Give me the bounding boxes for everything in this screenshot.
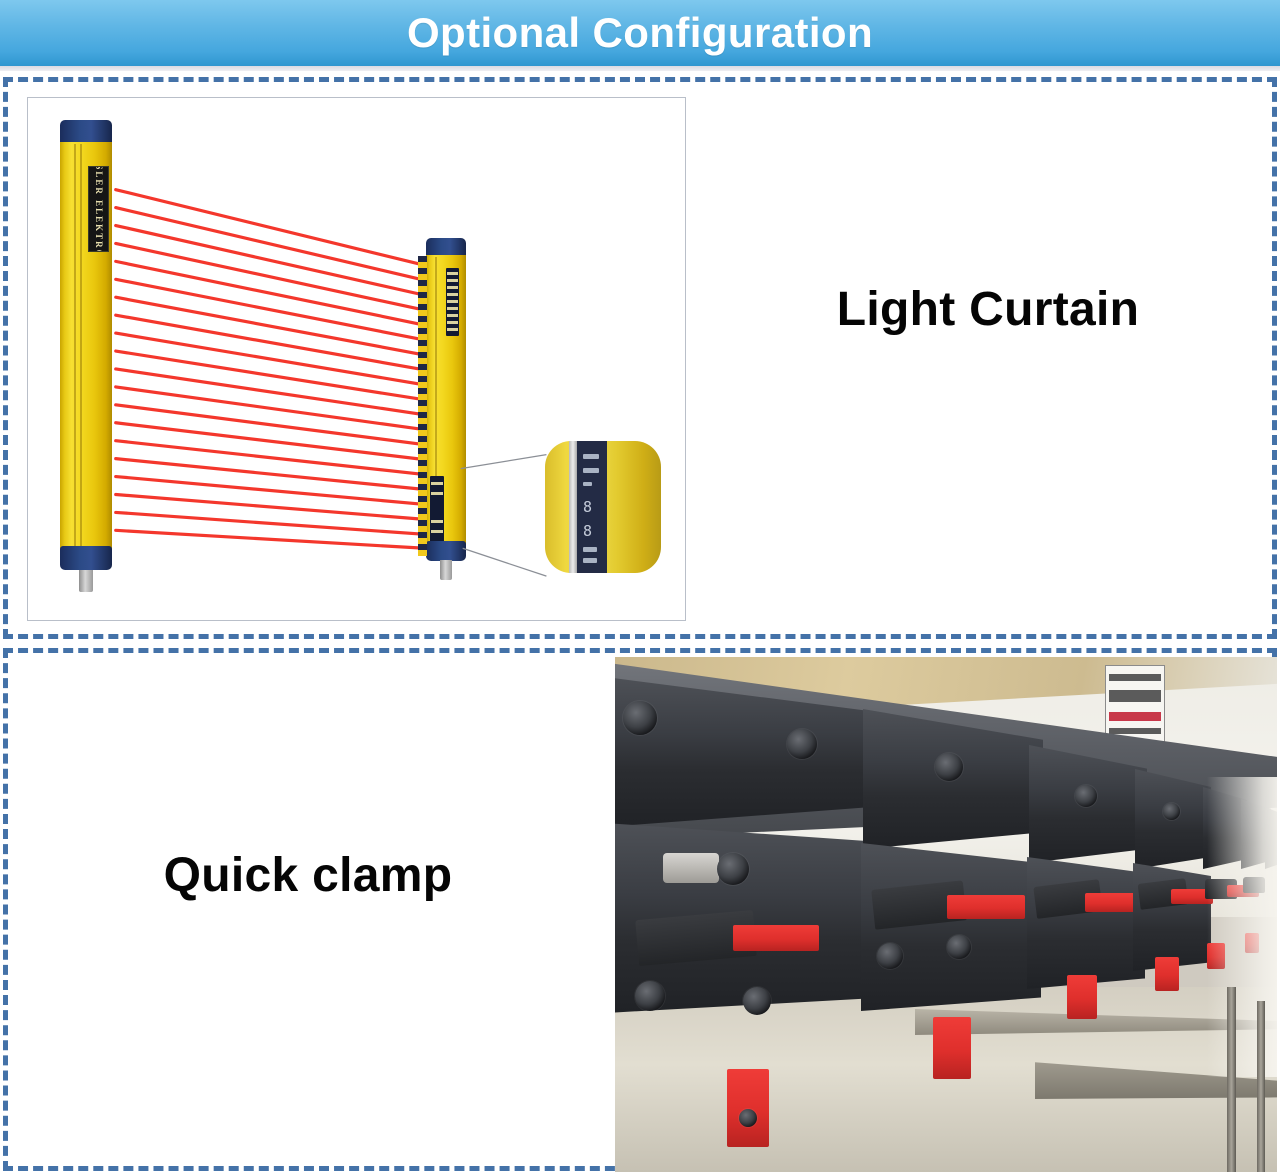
header-underline	[0, 66, 1280, 71]
callout-led-5	[583, 558, 597, 563]
clamp-bolt	[623, 701, 657, 735]
callout-digit-1: 8	[583, 498, 591, 516]
sign-line-3	[1109, 712, 1160, 721]
clamp-bolt	[877, 943, 903, 969]
clamp-red-handle	[947, 895, 1025, 919]
receiver-detail-callout: 8 8	[545, 441, 661, 573]
section-light-curtain: FIESSLER ELEKTRONIK	[3, 77, 1277, 639]
clamp-slot-pad	[663, 853, 719, 883]
callout-digit-2: 8	[583, 522, 591, 540]
page-header: Optional Configuration	[0, 0, 1280, 66]
section-quick-clamp: Quick clamp	[3, 648, 1277, 1171]
clamp-bolt	[743, 987, 771, 1015]
callout-indicator-panel	[577, 441, 607, 573]
light-curtain-caption: Light Curtain	[708, 282, 1268, 337]
page-title: Optional Configuration	[407, 12, 873, 54]
clamp-bolt	[1163, 803, 1180, 820]
clamp-red-handle	[733, 925, 819, 951]
clamp-bolt	[947, 935, 971, 959]
clamp-bolt	[1075, 785, 1097, 807]
support-post	[1227, 987, 1236, 1172]
quick-clamp-photo	[615, 657, 1277, 1172]
clamp-bolt	[635, 981, 665, 1011]
clamp-block-lower	[1027, 857, 1145, 989]
clamp-red-handle	[1155, 957, 1179, 991]
support-post	[1257, 1001, 1265, 1172]
sign-line-1	[1109, 674, 1160, 681]
callout-led-4	[583, 547, 597, 552]
sign-line-2	[1109, 690, 1160, 702]
callout-chrome-strip	[569, 441, 577, 573]
quick-clamp-caption: Quick clamp	[18, 848, 598, 903]
callout-led-1	[583, 454, 599, 459]
callout-led-2	[583, 468, 599, 473]
clamp-red-handle	[933, 1017, 971, 1079]
sign-line-4	[1109, 728, 1160, 734]
callout-led-3	[583, 482, 592, 486]
light-curtain-figure: FIESSLER ELEKTRONIK	[27, 97, 686, 621]
photo-depth-haze	[1207, 777, 1277, 1077]
clamp-bolt	[739, 1109, 757, 1127]
clamp-bolt	[935, 753, 963, 781]
clamp-bolt	[787, 729, 817, 759]
clamp-red-handle	[1067, 975, 1097, 1019]
light-curtain-illustration: FIESSLER ELEKTRONIK	[28, 98, 685, 620]
clamp-red-handle	[727, 1069, 769, 1147]
clamp-bolt	[717, 853, 749, 885]
